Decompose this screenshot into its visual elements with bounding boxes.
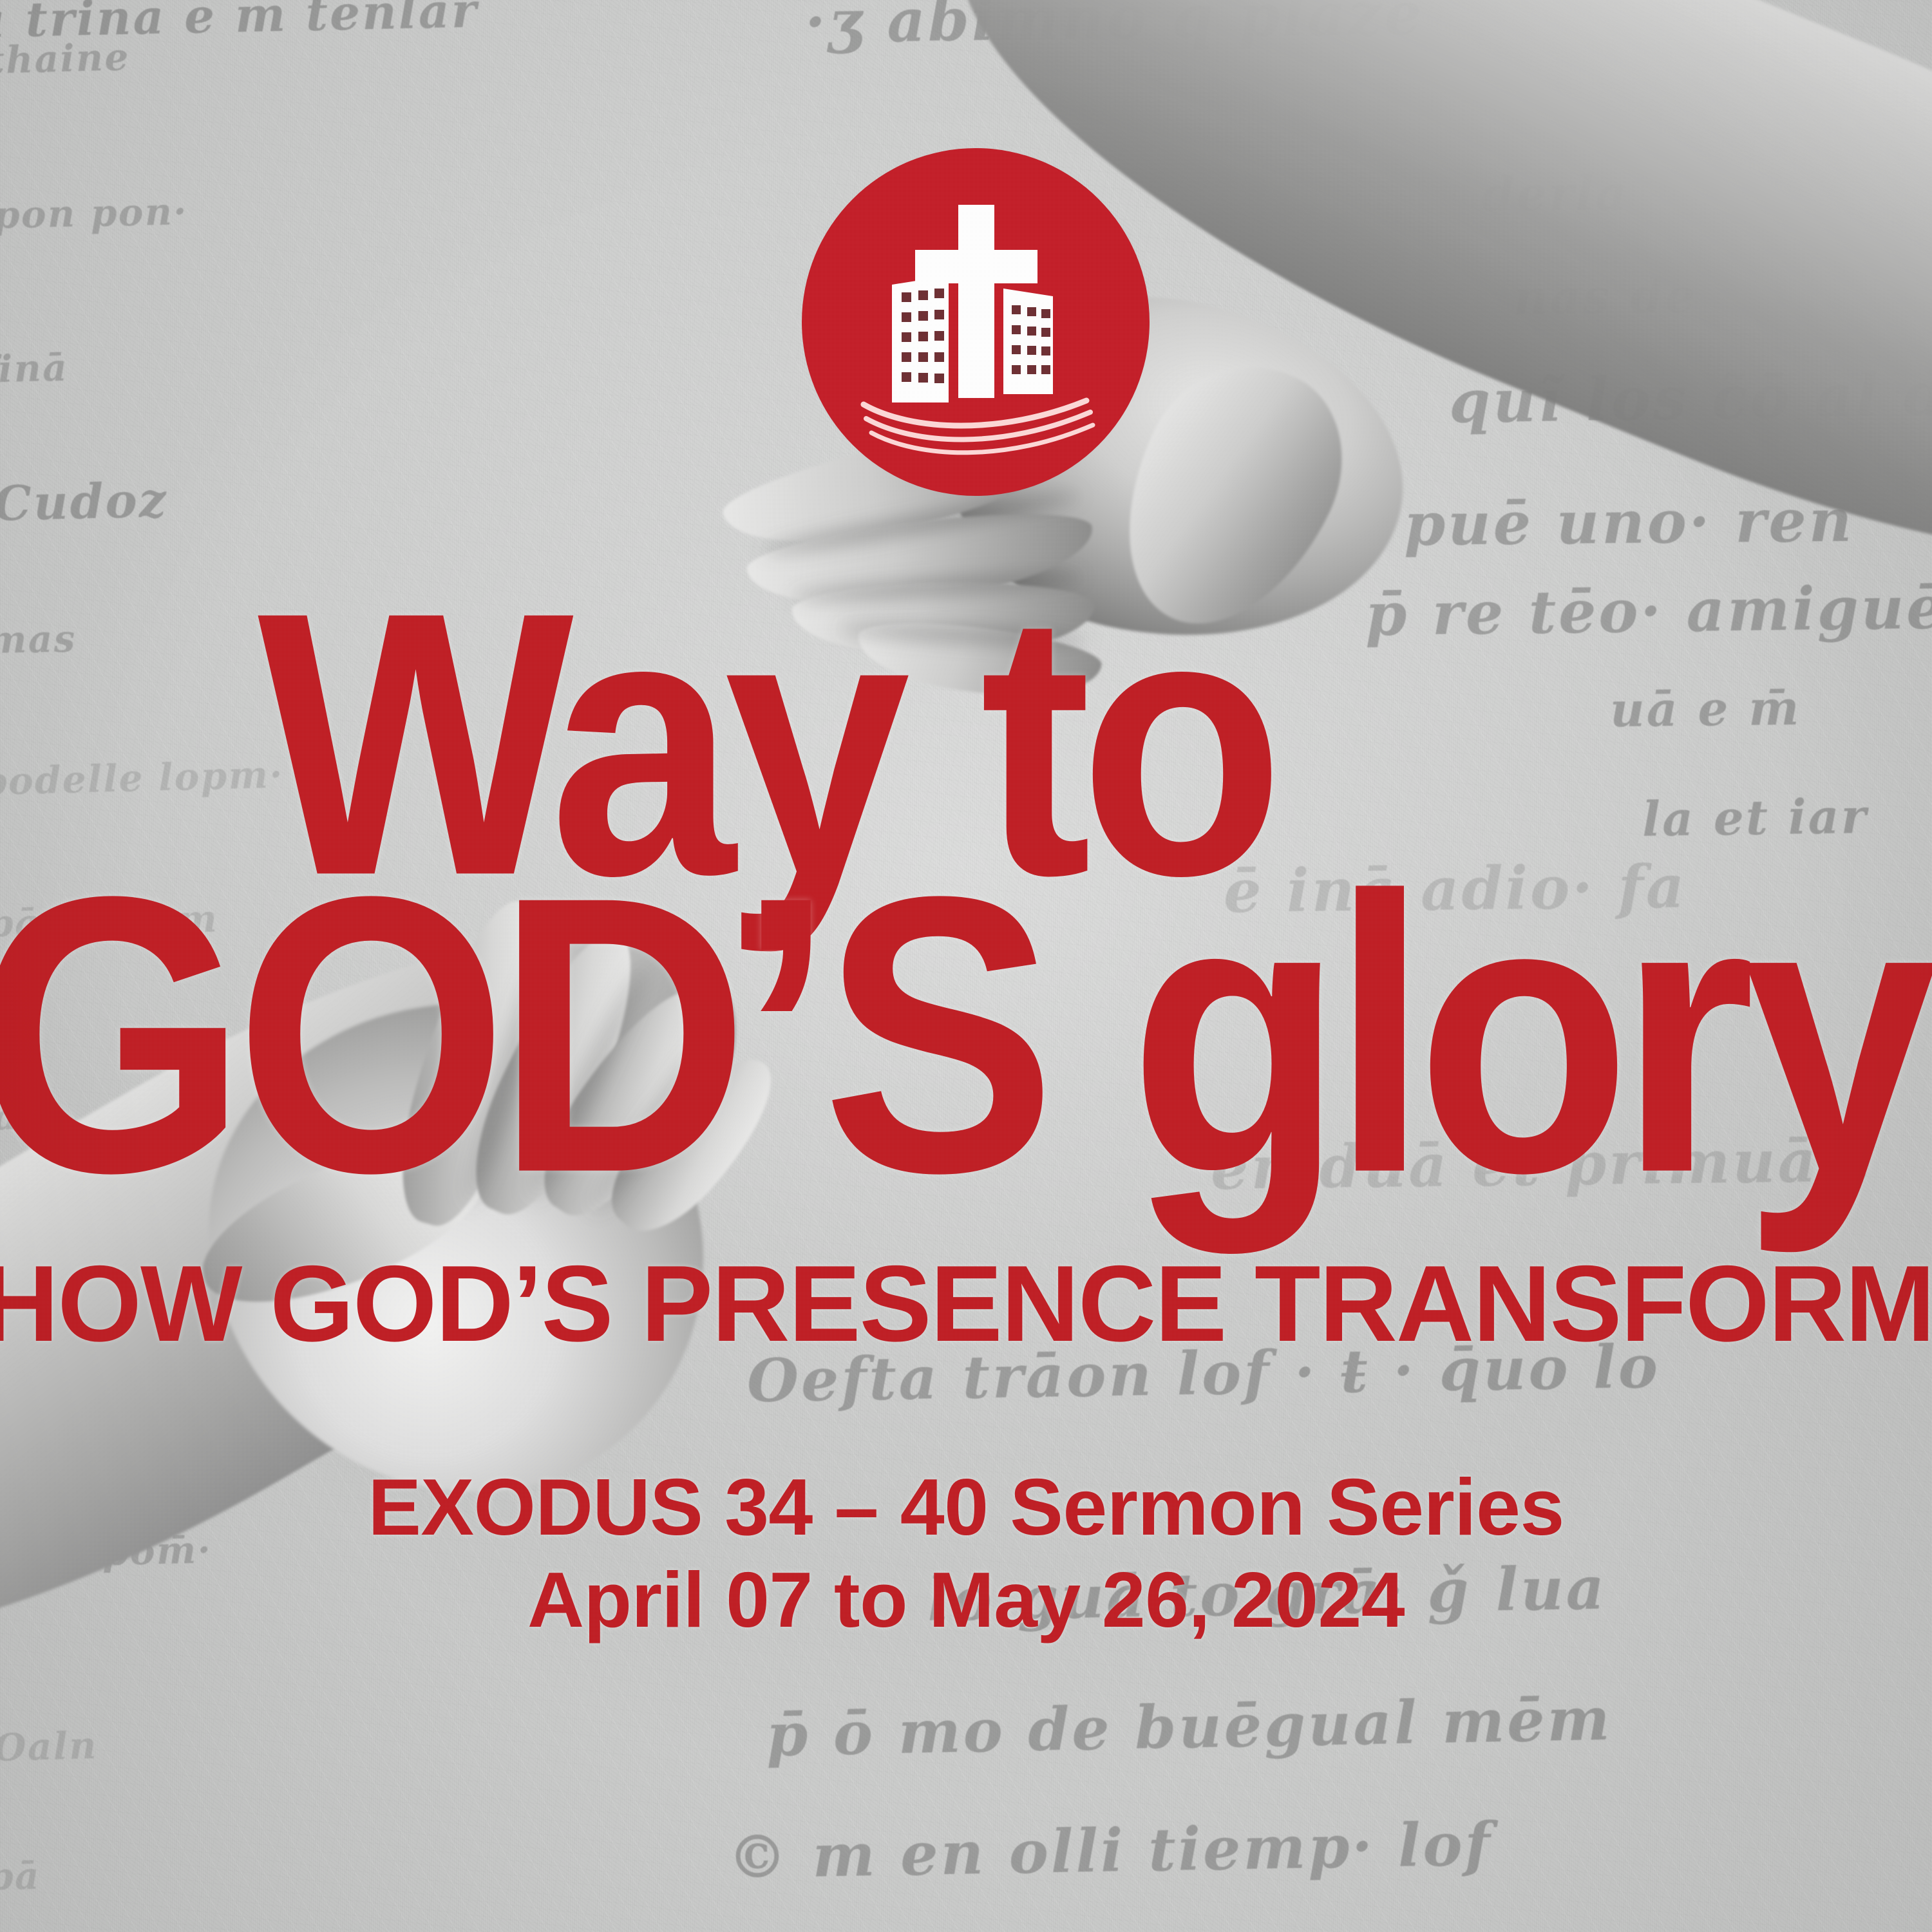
footer-block: EXODUS 34 – 40 Sermon Series April 07 to…	[0, 1462, 1932, 1645]
building-icon	[892, 276, 949, 402]
church-logo[interactable]	[802, 148, 1150, 496]
building-icon	[1003, 289, 1053, 394]
date-range: April 07 to May 26, 2024	[0, 1555, 1932, 1646]
sermon-series-poster: a trina e m tenlar ·ʒ abimno q̃ plaze th…	[0, 0, 1932, 1932]
wave-lines	[864, 401, 1093, 453]
scripture-reference: EXODUS 34 – 40 Sermon Series	[0, 1462, 1932, 1555]
logo-artwork	[802, 148, 1150, 496]
